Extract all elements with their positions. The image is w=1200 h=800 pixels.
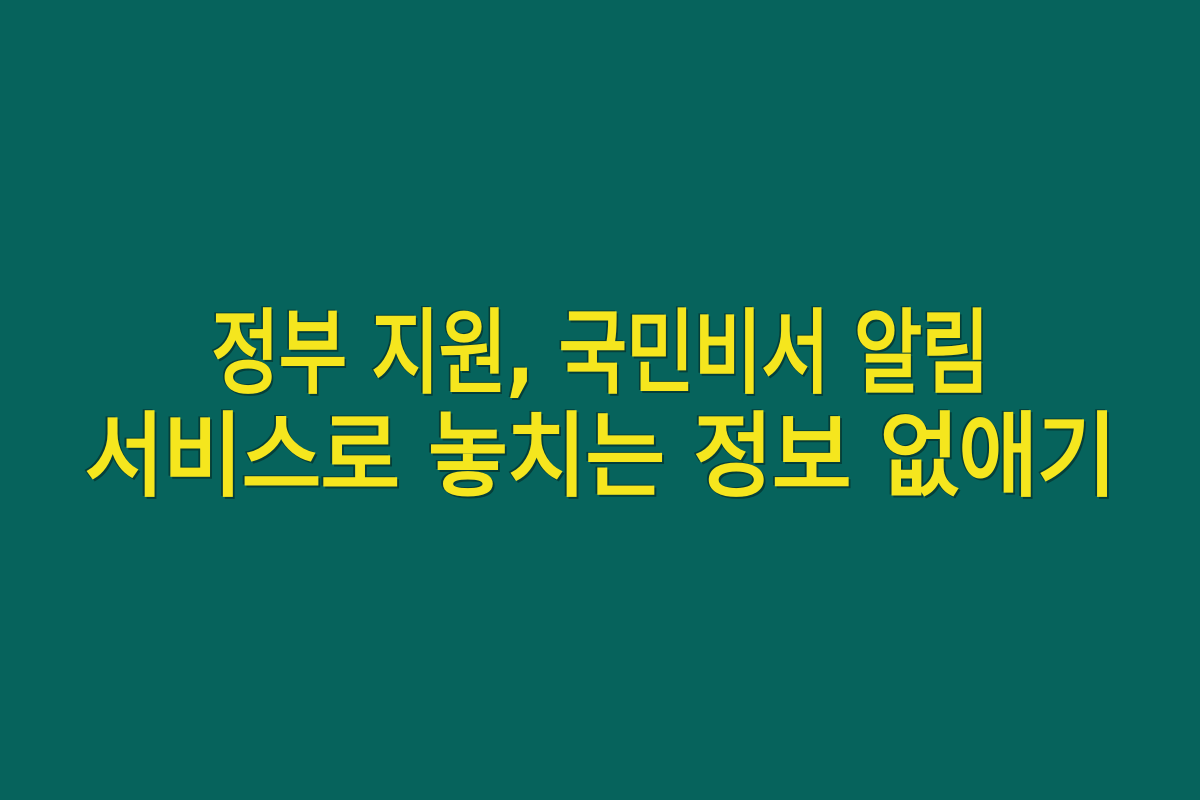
headline-line-2: 서비스로 놓치는 정보 없애기 xyxy=(35,405,1165,508)
banner-canvas: 정부 지원, 국민비서 알림 서비스로 놓치는 정보 없애기 xyxy=(0,0,1200,800)
headline-line-1: 정부 지원, 국민비서 알림 xyxy=(115,302,1085,405)
headline-block: 정부 지원, 국민비서 알림 서비스로 놓치는 정보 없애기 xyxy=(0,302,1200,508)
